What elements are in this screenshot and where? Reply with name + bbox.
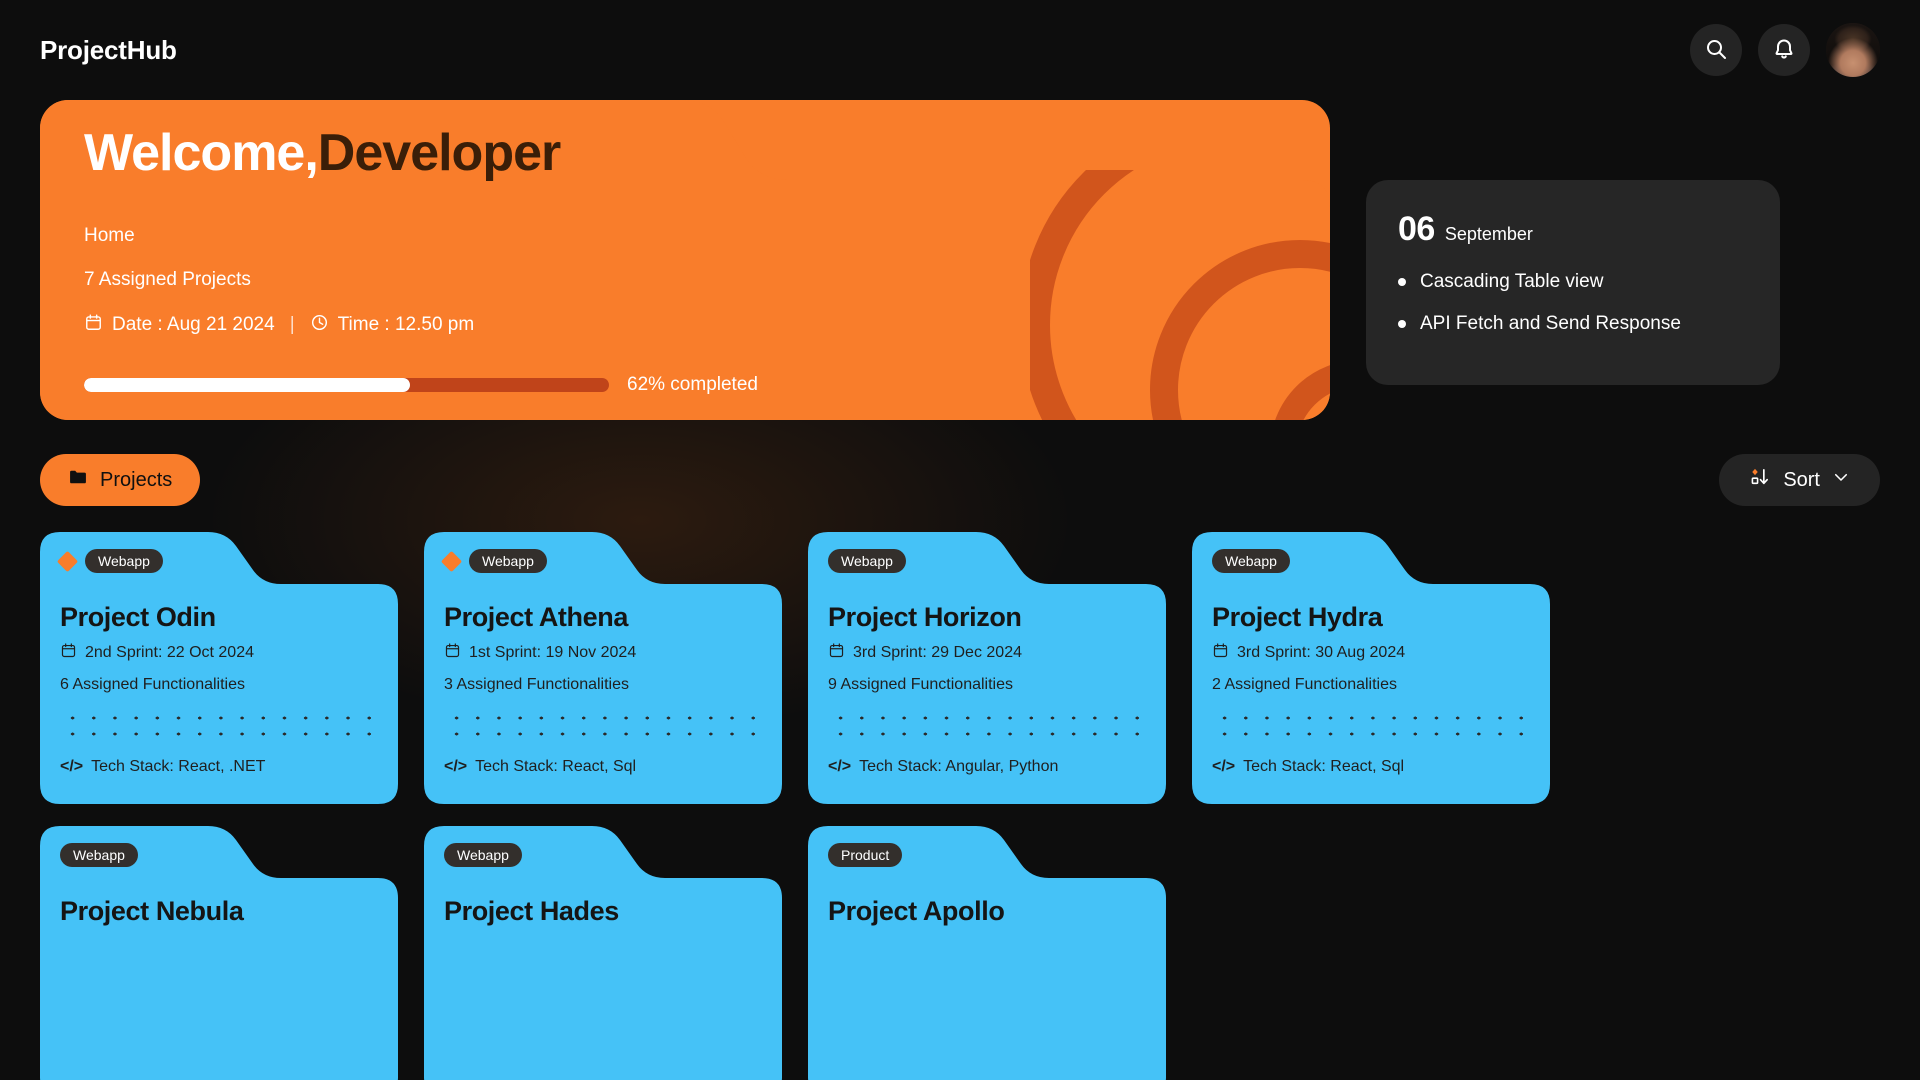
greeting-dark: Developer [318, 124, 560, 182]
date-time-row: Date : Aug 21 2024 | Time : 12.50 pm [84, 313, 1286, 338]
project-card-body: WebappProject Athena1st Sprint: 19 Nov 2… [424, 532, 782, 776]
bell-icon [1772, 37, 1796, 64]
status-badge: Webapp [469, 549, 547, 573]
code-icon: </> [60, 758, 83, 776]
progress-dot-grid [60, 706, 378, 748]
calendar-icon [828, 642, 845, 664]
project-title: Project Apollo [828, 896, 1146, 927]
priority-diamond-icon [57, 550, 78, 571]
project-card[interactable]: WebappProject Athena1st Sprint: 19 Nov 2… [424, 532, 782, 804]
list-item-label: Cascading Table view [1420, 271, 1603, 293]
progress-bar-fill [84, 378, 410, 392]
priority-diamond-icon [441, 550, 462, 571]
list-item: API Fetch and Send Response [1398, 313, 1748, 335]
project-tech-stack: </>Tech Stack: React, .NET [60, 758, 378, 776]
project-tech-stack: </>Tech Stack: React, Sql [1212, 758, 1530, 776]
project-tech-label: Tech Stack: React, Sql [1243, 758, 1404, 776]
status-badge: Webapp [85, 549, 163, 573]
code-icon: </> [828, 758, 851, 776]
avatar-image [1826, 23, 1880, 77]
project-card[interactable]: ProductProject Apollo</> [808, 826, 1166, 1080]
avatar[interactable] [1826, 23, 1880, 77]
project-title: Project Hades [444, 896, 762, 927]
calendar-icon [1212, 642, 1229, 664]
project-card-body: WebappProject Horizon3rd Sprint: 29 Dec … [808, 532, 1166, 776]
project-sprint: 3rd Sprint: 30 Aug 2024 [1212, 642, 1530, 664]
list-item-label: API Fetch and Send Response [1420, 313, 1681, 335]
app-header: ProjectHub [0, 0, 1920, 100]
project-card-body: WebappProject Odin2nd Sprint: 22 Oct 202… [40, 532, 398, 776]
assigned-projects-count: 7 Assigned Projects [84, 269, 1286, 291]
project-sprint-label: 2nd Sprint: 22 Oct 2024 [85, 644, 254, 662]
project-card-header: Webapp [60, 840, 378, 870]
date-label: Date : Aug 21 2024 [112, 314, 275, 336]
project-card[interactable]: WebappProject Horizon3rd Sprint: 29 Dec … [808, 532, 1166, 804]
hero-row: Welcome,Developer Home 7 Assigned Projec… [0, 100, 1920, 420]
calendar-icon [84, 313, 103, 338]
project-title: Project Horizon [828, 602, 1146, 633]
project-sprint-label: 3rd Sprint: 29 Dec 2024 [853, 644, 1022, 662]
project-card-header: Webapp [1212, 546, 1530, 576]
project-functionalities: 3 Assigned Functionalities [444, 676, 762, 694]
project-tech-stack: </>Tech Stack: Angular, Python [828, 758, 1146, 776]
date-day: 06 [1398, 210, 1435, 249]
projects-button-label: Projects [100, 469, 172, 492]
notes-list: Cascading Table viewAPI Fetch and Send R… [1398, 271, 1748, 335]
status-badge: Webapp [828, 549, 906, 573]
status-badge: Webapp [60, 843, 138, 867]
page-title: Welcome,Developer [84, 126, 1286, 181]
status-badge: Product [828, 843, 902, 867]
daily-notes-card: 06 September Cascading Table viewAPI Fet… [1366, 180, 1780, 385]
project-functionalities: 2 Assigned Functionalities [1212, 676, 1530, 694]
project-sprint: 3rd Sprint: 29 Dec 2024 [828, 642, 1146, 664]
search-button[interactable] [1690, 24, 1742, 76]
sort-icon [1749, 467, 1771, 493]
project-sprint-label: 1st Sprint: 19 Nov 2024 [469, 644, 636, 662]
progress-row: 62% completed [84, 374, 1286, 396]
greeting-light: Welcome, [84, 124, 318, 182]
progress-label: 62% completed [627, 374, 758, 396]
project-functionalities: 6 Assigned Functionalities [60, 676, 378, 694]
progress-dot-grid [1212, 706, 1530, 748]
project-title: Project Nebula [60, 896, 378, 927]
status-badge: Webapp [1212, 549, 1290, 573]
project-tech-label: Tech Stack: React, Sql [475, 758, 636, 776]
project-card-body: WebappProject Nebula</> [40, 826, 398, 1040]
project-title: Project Hydra [1212, 602, 1530, 633]
projects-grid: WebappProject Odin2nd Sprint: 22 Oct 202… [0, 532, 1920, 1080]
breadcrumb[interactable]: Home [84, 225, 1286, 247]
project-tech-label: Tech Stack: Angular, Python [859, 758, 1058, 776]
bullet-icon [1398, 320, 1406, 328]
date-heading: 06 September [1398, 210, 1748, 249]
meta-separator: | [290, 314, 295, 336]
project-card-header: Product [828, 840, 1146, 870]
date-month: September [1445, 224, 1533, 245]
clock-icon [310, 313, 329, 338]
notifications-button[interactable] [1758, 24, 1810, 76]
progress-dot-grid [828, 706, 1146, 748]
project-functionalities: 9 Assigned Functionalities [828, 676, 1146, 694]
project-card-body: WebappProject Hydra3rd Sprint: 30 Aug 20… [1192, 532, 1550, 776]
progress-dot-grid [444, 706, 762, 748]
project-title: Project Odin [60, 602, 378, 633]
project-sprint: 1st Sprint: 19 Nov 2024 [444, 642, 762, 664]
projects-toolbar: Projects Sort [0, 454, 1920, 506]
app-logo: ProjectHub [40, 35, 177, 66]
project-card-header: Webapp [444, 840, 762, 870]
project-card[interactable]: WebappProject Hades</> [424, 826, 782, 1080]
status-badge: Webapp [444, 843, 522, 867]
project-tech-label: Tech Stack: React, .NET [91, 758, 265, 776]
projects-button[interactable]: Projects [40, 454, 200, 506]
calendar-icon [444, 642, 461, 664]
time-label: Time : 12.50 pm [338, 314, 475, 336]
bullet-icon [1398, 278, 1406, 286]
welcome-banner: Welcome,Developer Home 7 Assigned Projec… [40, 100, 1330, 420]
search-icon [1704, 37, 1728, 64]
progress-bar [84, 378, 609, 392]
code-icon: </> [1212, 758, 1235, 776]
code-icon: </> [444, 758, 467, 776]
project-card[interactable]: WebappProject Nebula</> [40, 826, 398, 1080]
project-card-body: ProductProject Apollo</> [808, 826, 1166, 1040]
project-card-body: WebappProject Hades</> [424, 826, 782, 1040]
folder-icon [68, 467, 88, 493]
project-title: Project Athena [444, 602, 762, 633]
sort-button-label: Sort [1783, 469, 1820, 492]
project-sprint: 2nd Sprint: 22 Oct 2024 [60, 642, 378, 664]
project-card-header: Webapp [828, 546, 1146, 576]
project-tech-stack: </>Tech Stack: React, Sql [444, 758, 762, 776]
chevron-down-icon [1832, 468, 1850, 492]
project-sprint-label: 3rd Sprint: 30 Aug 2024 [1237, 644, 1405, 662]
project-card[interactable]: WebappProject Hydra3rd Sprint: 30 Aug 20… [1192, 532, 1550, 804]
project-card-header: Webapp [60, 546, 378, 576]
header-actions [1690, 23, 1880, 77]
project-card[interactable]: WebappProject Odin2nd Sprint: 22 Oct 202… [40, 532, 398, 804]
sort-button[interactable]: Sort [1719, 454, 1880, 506]
calendar-icon [60, 642, 77, 664]
hero-meta: Home 7 Assigned Projects Date : Aug 21 2… [84, 225, 1286, 396]
project-card-header: Webapp [444, 546, 762, 576]
list-item: Cascading Table view [1398, 271, 1748, 293]
